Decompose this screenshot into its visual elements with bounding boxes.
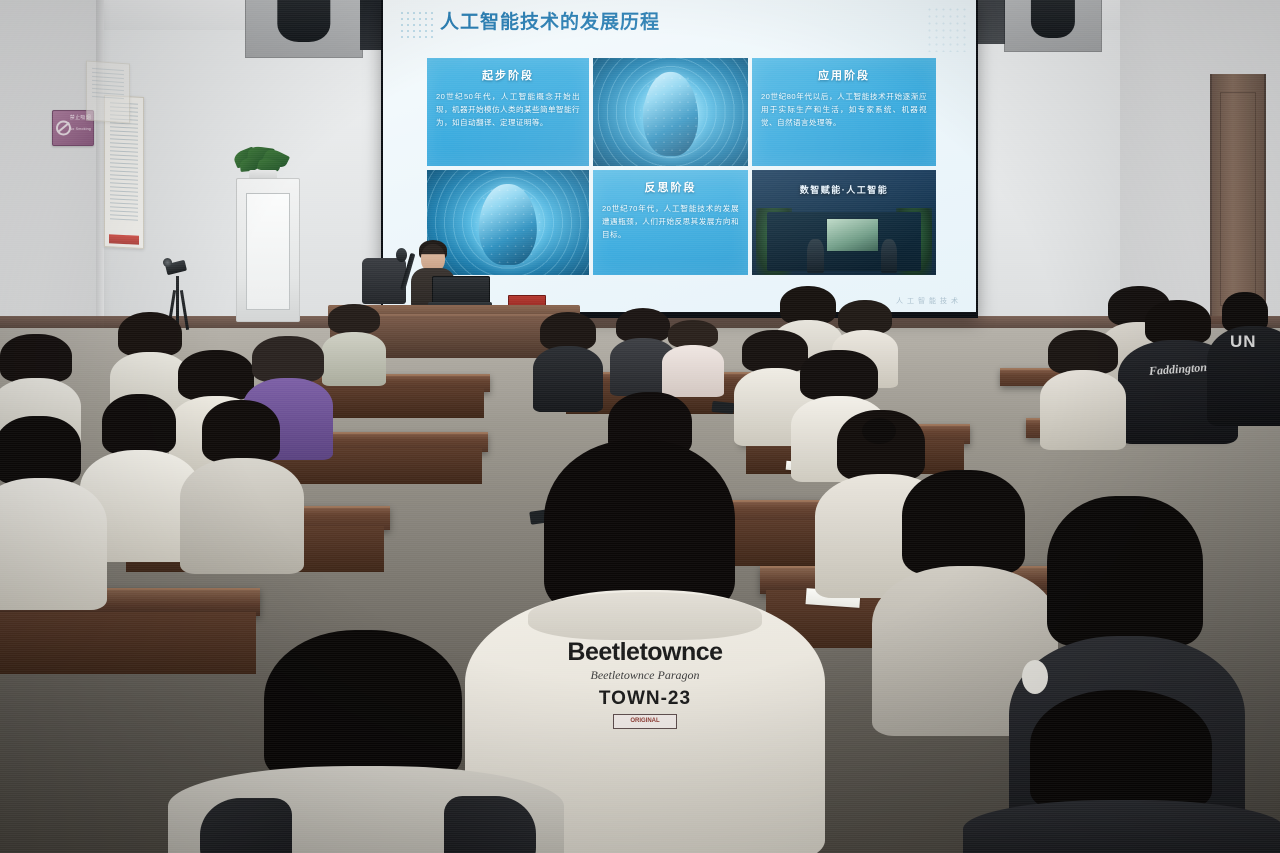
slide-watermark: 人工智能技术 [896, 296, 962, 306]
hair-bun [862, 418, 896, 444]
student-mid-8 [1048, 330, 1118, 446]
left-wall-edge [96, 0, 104, 350]
hoodie-hood [528, 592, 762, 640]
student-hair [252, 336, 324, 382]
card-body: 20世纪70年代，人工智能技术的发展遭遇瓶颈，人们开始反思其发展方向和目标。 [602, 202, 739, 241]
potted-plant [230, 148, 296, 182]
ceiling-speaker-right-icon [1004, 0, 1102, 52]
student-torso [1040, 370, 1127, 450]
student-hair [902, 470, 1025, 574]
smartphone[interactable] [711, 401, 734, 414]
slide-card-stage-3: 应用阶段 20世纪80年代以后，人工智能技术开始逐渐应用于实际生产和生活，如专家… [752, 58, 936, 166]
student-torso [180, 458, 304, 574]
camera-lens-icon [163, 258, 172, 267]
expo-photo-caption: 数智赋能·人工智能 [752, 183, 936, 196]
student-hair [742, 330, 808, 372]
projection-screen: 人工智能技术的发展历程 起步阶段 20世纪50年代，人工智能概念开始出现，机器开… [381, 0, 978, 318]
student-hair [1048, 330, 1118, 374]
decorative-dot-grid-right [926, 6, 970, 52]
expo-monitor [826, 218, 880, 252]
student-back-3 [668, 320, 718, 394]
ai-wireframe-mesh [476, 183, 541, 267]
student-hair [616, 308, 670, 342]
hoodie-print-line3: TOWN-23 [500, 688, 790, 710]
student-hair [540, 312, 596, 350]
slide-card-stage-1: 起步阶段 20世纪50年代，人工智能概念开始出现，机器开始模仿人类的某些简单智能… [427, 58, 589, 166]
speaker-cone-icon [1031, 0, 1075, 38]
student-desk-panel [306, 388, 484, 418]
student-torso [0, 478, 107, 610]
poster-text-lines [92, 68, 124, 116]
decorative-dot-grid [399, 10, 433, 40]
microphone-head-icon [396, 248, 407, 262]
card-heading: 起步阶段 [427, 67, 589, 83]
card-body: 20世纪50年代，人工智能概念开始出现，机器开始模仿人类的某些简单智能行为，如自… [436, 90, 580, 129]
raglan-sleeve-left [200, 798, 292, 853]
card-heading: 应用阶段 [752, 67, 936, 83]
student-back-1 [328, 304, 380, 384]
student-hair [780, 286, 836, 324]
earbud-icon [1022, 660, 1048, 694]
student-torso [322, 332, 386, 386]
screen-mount-bracket-right [975, 0, 1005, 44]
student-hair [178, 350, 254, 400]
expo-photo-image: 数智赋能·人工智能 [752, 170, 936, 275]
ai-face-image-bottom [427, 170, 589, 275]
student-hair [0, 416, 81, 484]
no-smoking-sublabel: No Smoking [69, 126, 91, 132]
student-near-2 [192, 400, 292, 566]
speaker-cone-icon [277, 0, 330, 42]
presenter-chair [362, 258, 406, 304]
card-body: 20世纪80年代以后，人工智能技术开始逐渐应用于实际生产和生活，如专家系统、机器… [761, 90, 927, 129]
student-hair [668, 320, 718, 348]
ai-wireframe-mesh [640, 71, 702, 157]
expo-visitor [881, 239, 898, 273]
cabinet-door[interactable] [246, 193, 291, 309]
expo-visitor [807, 239, 824, 273]
student-hair [202, 400, 280, 462]
wooden-door [1210, 74, 1266, 324]
student-hair [838, 300, 892, 334]
student-foreground-right [994, 690, 1254, 853]
student-hair [0, 334, 72, 382]
student-foreground-left [206, 630, 526, 853]
card-heading: 反思阶段 [593, 179, 748, 195]
slide-card-stage-2: 反思阶段 20世纪70年代，人工智能技术的发展遭遇瓶颈，人们开始反思其发展方向和… [593, 170, 748, 275]
presentation-slide: 人工智能技术的发展历程 起步阶段 20世纪50年代，人工智能概念开始出现，机器开… [383, 0, 976, 312]
jacket-un-logo: UN [1230, 332, 1280, 352]
student-hair [800, 350, 878, 400]
hoodie-badge-text: ORIGINAL [614, 715, 676, 728]
water-dispenser-cabinet [236, 178, 300, 322]
ceiling-speaker-left-icon [245, 0, 363, 58]
student-torso [662, 345, 724, 397]
student-torso [533, 346, 602, 412]
lecture-hall-photo: 禁止吸烟 No Smoking 人工智能技术的发展历程 [0, 0, 1280, 853]
student-mid-5 [540, 312, 596, 408]
student-hair [544, 440, 735, 612]
student-hair [328, 304, 380, 334]
student-jacket-un: UN [1216, 292, 1280, 422]
screen-mount-bracket [360, 0, 382, 50]
student-hair [1145, 300, 1210, 344]
left-wall [0, 0, 100, 360]
raglan-sleeve-right [444, 796, 536, 853]
student-hair [1047, 496, 1203, 646]
slide-title: 人工智能技术的发展历程 [440, 8, 660, 38]
student-near-3 [0, 416, 94, 604]
hoodie-print-line2: Beetletownce Paragon [500, 668, 790, 683]
student-hair [1030, 690, 1212, 810]
student-torso [963, 800, 1280, 853]
student-hair [118, 312, 182, 356]
poster-red-footer [109, 234, 139, 245]
student-hair [102, 394, 177, 454]
hoodie-print-line1: Beetletownce [500, 638, 790, 667]
wall-poster-corner [86, 60, 130, 123]
student-hair [264, 630, 462, 780]
ai-face-image-top [593, 58, 748, 166]
hoodie-print-badge: ORIGINAL [613, 714, 677, 729]
